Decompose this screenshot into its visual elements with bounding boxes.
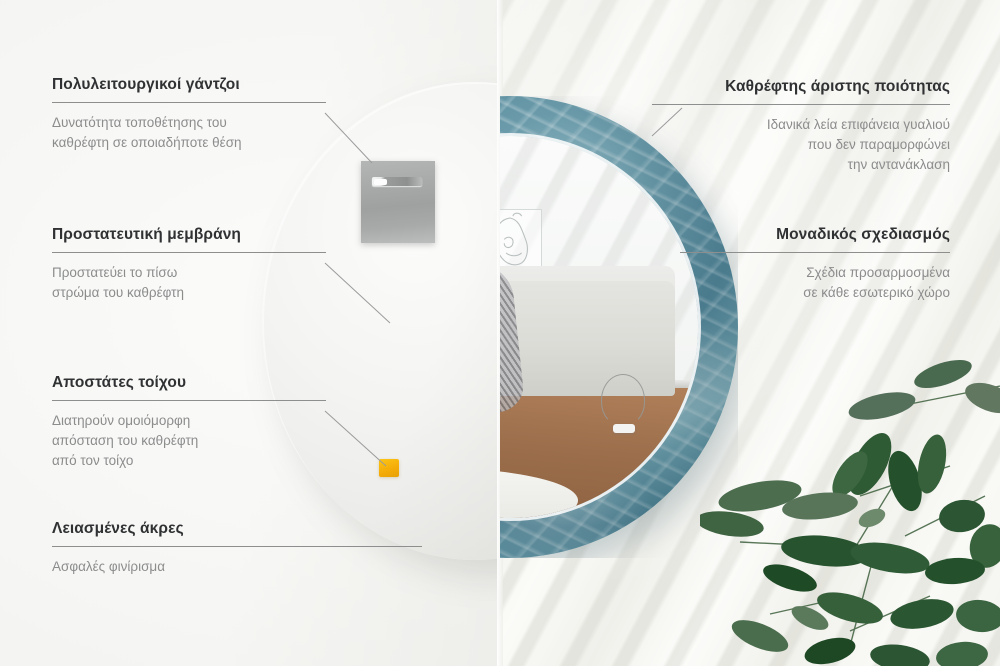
callout-spacers-rule [52,400,326,401]
callout-design-title: Μοναδικός σχεδιασμός [680,226,950,244]
callout-design: Μοναδικός σχεδιασμός Σχέδια προσαρμοσμέν… [680,226,950,303]
callout-quality-desc: Ιδανικά λεία επιφάνεια γυαλιού που δεν π… [652,115,950,175]
callout-edges-rule [52,546,422,547]
hanging-bracket-plate [361,161,435,243]
callout-hooks: Πολυλειτουργικοί γάντζοι Δυνατότητα τοπο… [52,76,326,153]
callout-membrane: Προστατευτική μεμβράνη Προστατεύει το πί… [52,226,326,303]
callout-spacers: Αποστάτες τοίχου Διατηρούν ομοιόμορφη απ… [52,374,326,471]
mirror-glass-reflection [500,136,698,518]
callout-quality-rule [652,104,950,105]
callout-membrane-rule [52,252,326,253]
callout-spacers-desc: Διατηρούν ομοιόμορφη απόσταση του καθρέφ… [52,411,326,471]
callout-spacers-title: Αποστάτες τοίχου [52,374,326,392]
callout-edges-title: Λειασμένες άκρες [52,520,422,538]
callout-hooks-desc: Δυνατότητα τοποθέτησης του καθρέφτη σε ο… [52,113,326,153]
bracket-keyhole-slot [372,177,422,186]
callout-membrane-desc: Προστατεύει το πίσω στρώμα του καθρέφτη [52,263,326,303]
callout-hooks-rule [52,102,326,103]
product-infographic: Πολυλειτουργικοί γάντζοι Δυνατότητα τοπο… [0,0,1000,666]
callout-design-rule [680,252,950,253]
callout-quality-title: Καθρέφτης άριστης ποιότητας [652,78,950,96]
callout-hooks-title: Πολυλειτουργικοί γάντζοι [52,76,326,94]
callout-membrane-title: Προστατευτική μεμβράνη [52,226,326,244]
foliage-branches [700,346,1000,666]
wall-spacer-chip [379,459,399,477]
callout-quality: Καθρέφτης άριστης ποιότητας Ιδανικά λεία… [652,78,950,175]
callout-edges: Λειασμένες άκρες Ασφαλές φινίρισμα [52,520,422,577]
callout-edges-desc: Ασφαλές φινίρισμα [52,557,422,577]
callout-design-desc: Σχέδια προσαρμοσμένα σε κάθε εσωτερικό χ… [680,263,950,303]
